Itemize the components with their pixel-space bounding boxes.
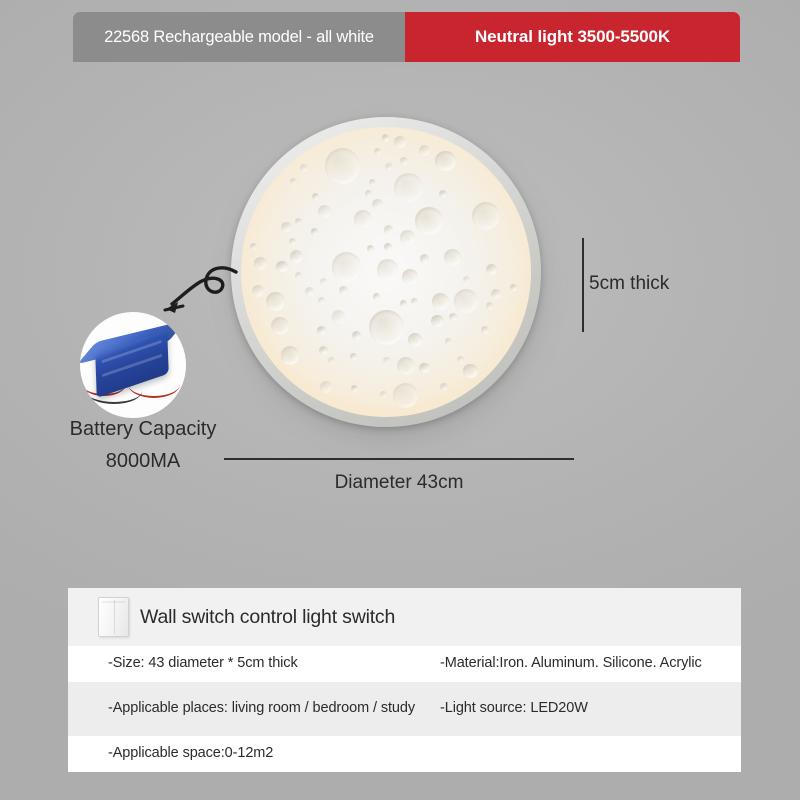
- thickness-measure-line: [582, 238, 584, 332]
- lamp-crater: [350, 353, 357, 360]
- spec-size-text: -Size: 43 diameter * 5cm thick: [68, 644, 434, 683]
- lamp-crater: [380, 391, 387, 398]
- lamp-crater: [394, 136, 406, 148]
- lamp-crater: [250, 243, 257, 250]
- lamp-crater: [431, 315, 444, 328]
- lamp-crater: [400, 157, 407, 164]
- lamp-crater: [463, 364, 477, 378]
- lamp-crater: [295, 218, 302, 225]
- lamp-crater: [281, 222, 291, 232]
- diameter-label: Diameter 43cm: [224, 472, 574, 494]
- lamp-crater: [281, 346, 299, 364]
- lamp-crater: [445, 338, 452, 345]
- lamp-crater: [318, 205, 331, 218]
- spec-row: -Applicable space:0-12m2: [68, 736, 741, 772]
- lamp-crater: [320, 381, 332, 393]
- lamp-crater: [254, 257, 267, 270]
- spec-applicable-places-text: -Applicable places: living room / bedroo…: [68, 689, 434, 728]
- lamp-crater: [271, 317, 289, 335]
- battery-capacity-label: Battery Capacity: [48, 418, 238, 441]
- curly-arrow-icon: [152, 262, 242, 324]
- lamp-crater: [440, 383, 448, 391]
- battery-image: [80, 312, 186, 418]
- lamp-crater: [325, 148, 360, 183]
- lamp-diffuser-surface: [241, 127, 531, 417]
- lamp-crater: [377, 259, 399, 281]
- spec-row: -Size: 43 diameter * 5cm thick -Material…: [68, 646, 741, 682]
- banner-model-label: 22568 Rechargeable model - all white: [73, 12, 405, 62]
- lamp-crater: [367, 245, 374, 252]
- lamp-crater: [439, 190, 447, 198]
- lamp-crater: [289, 238, 296, 245]
- lamp-crater: [402, 269, 418, 285]
- spec-panel-title: Wall switch control light switch: [140, 606, 395, 629]
- thickness-label: 5cm thick: [589, 273, 669, 295]
- product-image-canvas: 22568 Rechargeable model - all white Neu…: [0, 0, 800, 800]
- lamp-crater: [393, 383, 418, 408]
- lamp-crater: [486, 302, 493, 309]
- spec-material-text: -Material:Iron. Aluminum. Silicone. Acry…: [434, 644, 741, 683]
- lamp-crater: [369, 310, 404, 345]
- diameter-measure-line: [224, 458, 574, 460]
- lamp-crater: [449, 313, 457, 321]
- lamp-crater: [385, 163, 393, 171]
- lamp-crater: [382, 134, 389, 141]
- lamp-crater: [319, 346, 328, 355]
- wall-switch-icon: [98, 597, 129, 637]
- lamp-crater: [510, 284, 517, 291]
- lamp-crater: [481, 326, 489, 334]
- lamp-crater: [383, 357, 391, 365]
- spec-row: -Applicable places: living room / bedroo…: [68, 682, 741, 736]
- lamp-crater: [419, 145, 430, 156]
- banner-light-temperature-label: Neutral light 3500-5500K: [405, 12, 740, 62]
- lamp-crater: [317, 326, 326, 335]
- spec-empty-cell: [434, 744, 741, 764]
- spec-panel-header: Wall switch control light switch: [68, 588, 741, 646]
- specification-panel: Wall switch control light switch -Size: …: [68, 588, 741, 772]
- lamp-crater: [332, 310, 346, 324]
- lamp-crater: [318, 297, 325, 304]
- lamp-crater: [432, 293, 449, 310]
- lamp-crater: [415, 207, 443, 235]
- top-banner: 22568 Rechargeable model - all white Neu…: [73, 12, 740, 62]
- lamp-crater: [252, 285, 264, 297]
- battery-capacity-value: 8000MA: [48, 450, 238, 473]
- spec-applicable-space-text: -Applicable space:0-12m2: [68, 734, 434, 773]
- lamp-crater: [420, 254, 429, 263]
- lamp-crater: [295, 272, 302, 279]
- lamp-crater: [400, 230, 415, 245]
- lamp-crater: [372, 199, 383, 210]
- lamp-crater: [365, 190, 372, 197]
- ceiling-lamp-image: [231, 117, 541, 427]
- lamp-crater: [290, 178, 297, 185]
- lamp-crater: [332, 252, 361, 281]
- lamp-crater: [419, 363, 430, 374]
- lamp-crater: [312, 193, 319, 200]
- spec-light-source-text: -Light source: LED20W: [434, 689, 741, 728]
- lamp-crater: [463, 276, 470, 283]
